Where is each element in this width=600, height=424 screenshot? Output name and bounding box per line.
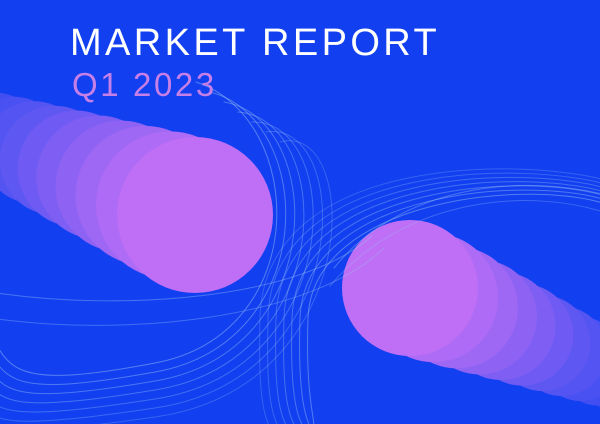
market-report-cover: MARKET REPORT Q1 2023 xyxy=(0,0,600,424)
comet-head xyxy=(342,220,478,356)
cover-artwork xyxy=(0,0,600,424)
comet-head xyxy=(117,137,273,293)
